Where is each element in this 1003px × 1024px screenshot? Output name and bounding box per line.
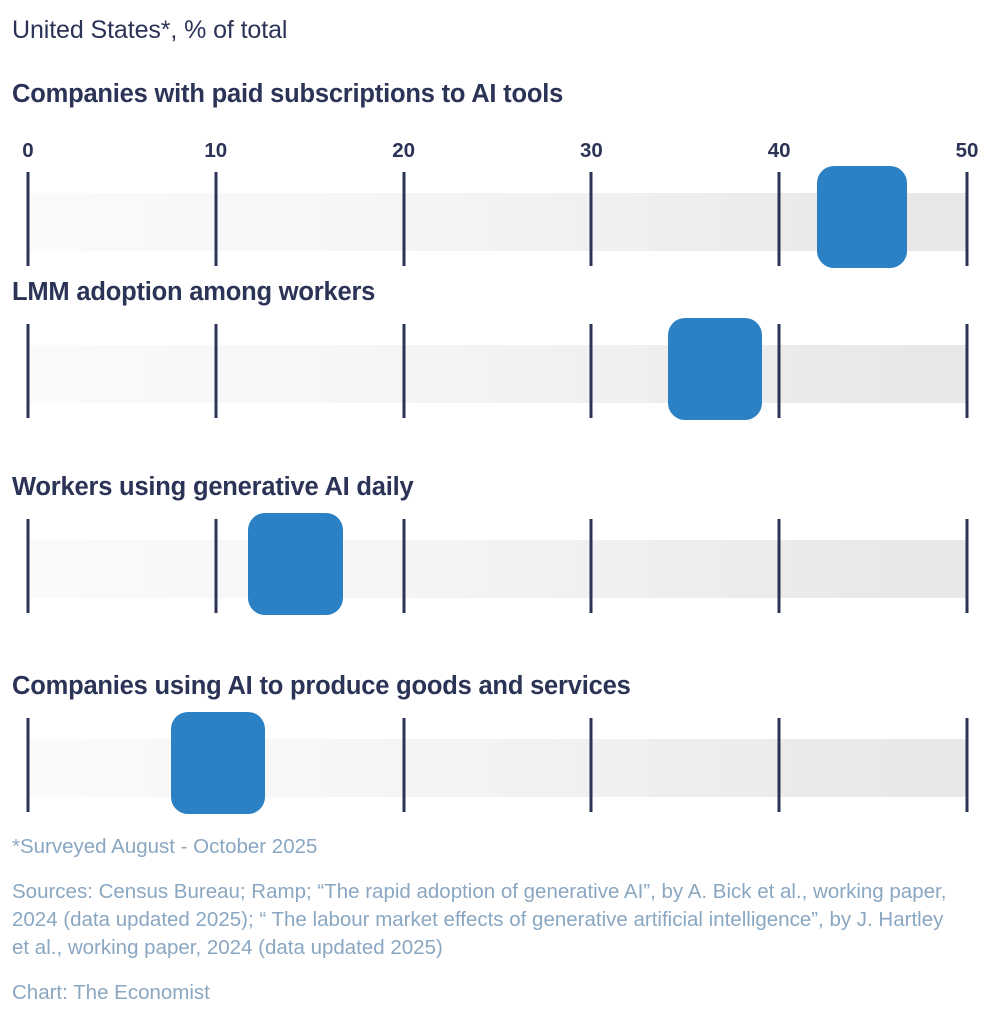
value-marker xyxy=(668,318,762,420)
axis-tick-label: 0 xyxy=(22,139,33,163)
axis-gridline xyxy=(966,519,969,613)
chart-credit: Chart: The Economist xyxy=(12,980,987,1006)
axis-gridline xyxy=(590,718,593,812)
axis-gridline xyxy=(402,718,405,812)
panel-plot-area xyxy=(0,172,1003,268)
axis-gridline xyxy=(402,519,405,613)
axis-gridline xyxy=(778,324,781,418)
axis-tick-labels: 01020304050 xyxy=(0,139,1003,165)
chart-subtitle: United States*, % of total xyxy=(12,16,287,45)
axis-gridline xyxy=(214,172,217,266)
axis-gridline xyxy=(27,324,30,418)
axis-gridline xyxy=(590,172,593,266)
value-marker xyxy=(248,513,344,615)
panel-title: Companies using AI to produce goods and … xyxy=(12,672,631,701)
footnote: *Surveyed August - October 2025 xyxy=(12,834,987,860)
axis-gridline xyxy=(214,324,217,418)
axis-gridline xyxy=(402,324,405,418)
axis-gridline xyxy=(966,324,969,418)
axis-gridline xyxy=(966,718,969,812)
value-band xyxy=(28,739,967,797)
axis-tick-label: 50 xyxy=(956,139,979,163)
axis-gridline xyxy=(966,172,969,266)
panel-title: Companies with paid subscriptions to AI … xyxy=(12,80,563,109)
axis-gridline xyxy=(778,519,781,613)
axis-gridline xyxy=(214,519,217,613)
chart-footer: *Surveyed August - October 2025 Sources:… xyxy=(12,834,987,1006)
value-band xyxy=(28,345,967,403)
axis-tick-label: 40 xyxy=(768,139,791,163)
axis-tick-label: 30 xyxy=(580,139,603,163)
axis-tick-label: 10 xyxy=(204,139,227,163)
panel-plot-area xyxy=(0,718,1003,814)
sources-text: Sources: Census Bureau; Ramp; “The rapid… xyxy=(12,878,952,962)
panel-plot-area xyxy=(0,324,1003,420)
axis-gridline xyxy=(27,172,30,266)
axis-gridline xyxy=(402,172,405,266)
chart-root: United States*, % of total Companies wit… xyxy=(0,0,1003,1024)
axis-tick-label: 20 xyxy=(392,139,415,163)
value-marker xyxy=(817,166,907,268)
panel-plot-area xyxy=(0,519,1003,615)
panel-title: Workers using generative AI daily xyxy=(12,473,414,502)
axis-gridline xyxy=(27,519,30,613)
panel-title: LMM adoption among workers xyxy=(12,278,375,307)
value-marker xyxy=(171,712,265,814)
axis-gridline xyxy=(590,324,593,418)
axis-gridline xyxy=(590,519,593,613)
axis-gridline xyxy=(778,172,781,266)
axis-gridline xyxy=(27,718,30,812)
axis-gridline xyxy=(778,718,781,812)
value-band xyxy=(28,540,967,598)
